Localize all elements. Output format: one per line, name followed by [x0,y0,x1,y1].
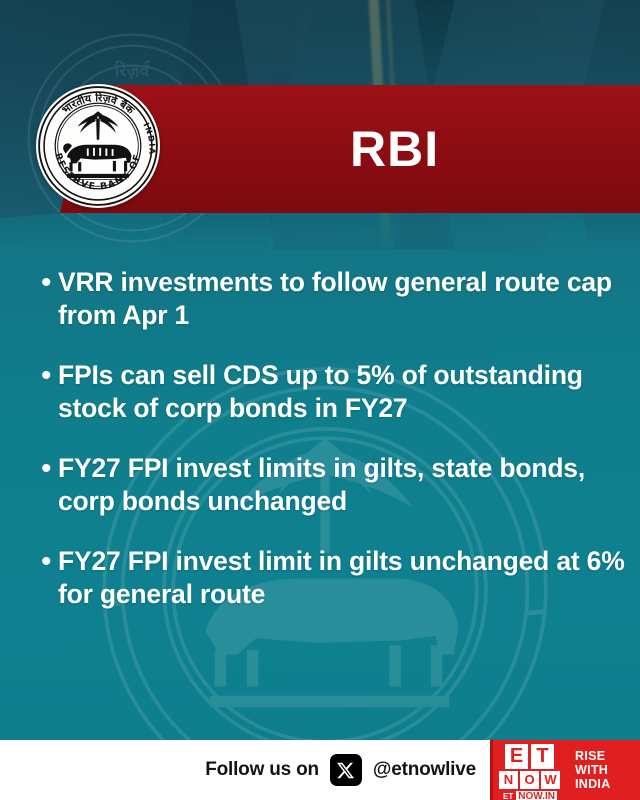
bullet-list: • VRR investments to follow general rout… [36,266,628,611]
bullet-icon: • [36,266,58,332]
svg-text:रिज़र्व: रिज़र्व [114,59,151,81]
list-item-text: FY27 FPI invest limit in gilts unchanged… [58,545,628,611]
etnow-logo-mark: E T N O W ET NOW.IN [490,740,566,800]
footer-bar: Follow us on @etnowlive E T N O W [0,740,640,800]
bullet-icon: • [36,359,58,425]
etnow-letter-e: E [505,744,528,769]
bullet-icon: • [36,545,58,611]
etnow-letter-o: O [520,771,539,789]
etnow-url-prefix: ET [502,792,514,800]
etnow-url-suffix: NOW.IN [516,791,557,800]
etnow-et-row: E T [505,744,554,769]
list-item-text: VRR investments to follow general route … [58,266,628,332]
rbi-seal-logo: भारतीय रिज़र्व बैंक RESERVE BANK OF INDI… [36,84,160,208]
list-item-text: FY27 FPI invest limits in gilts, state b… [58,452,628,518]
tagline-line-1: RISE [575,749,605,763]
follow-us-label: Follow us on [205,759,319,781]
follow-us-group: Follow us on @etnowlive [205,754,476,786]
list-item: • FY27 FPI invest limits in gilts, state… [36,452,628,518]
list-item-text: FPIs can sell CDS up to 5% of outstandin… [58,359,628,425]
etnow-tagline: RISE WITH INDIA [566,740,640,800]
page-title: RBI [350,124,439,174]
etnow-now-row: N O W [499,771,560,789]
tagline-line-3: INDIA [575,777,611,791]
list-item: • FY27 FPI invest limit in gilts unchang… [36,545,628,611]
bullet-icon: • [36,452,58,518]
tagline-line-2: WITH [575,763,608,777]
etnow-letter-w: W [541,771,560,789]
social-handle[interactable]: @etnowlive [373,759,476,781]
etnow-website-url: ET NOW.IN [493,791,566,800]
news-card: RESERVE R I रिज़र्व RBI [0,0,640,800]
list-item: • FPIs can sell CDS up to 5% of outstand… [36,359,628,425]
etnow-brand-logo: E T N O W ET NOW.IN RISE WITH INDIA [490,740,640,800]
etnow-letter-t: T [531,744,554,769]
etnow-letter-n: N [499,771,518,789]
x-twitter-icon[interactable] [330,754,362,786]
list-item: • VRR investments to follow general rout… [36,266,628,332]
